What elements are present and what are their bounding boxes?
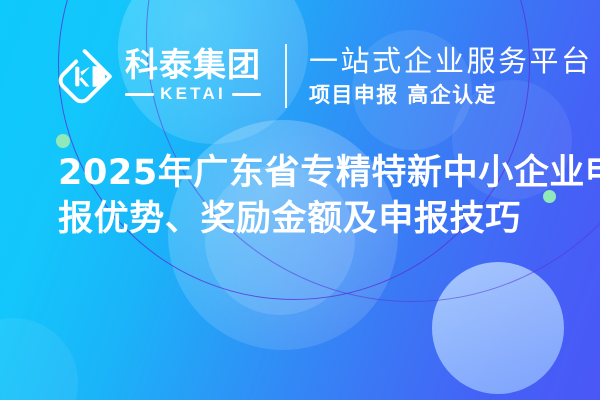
brand-logo-lockup[interactable]: 科泰集团 KETAI bbox=[56, 46, 261, 106]
title-line-2: 报优势、奖励金额及申报技巧 bbox=[58, 196, 558, 242]
brand-name-cn: 科泰集团 bbox=[125, 48, 261, 82]
brand-name-en-row: KETAI bbox=[125, 84, 261, 104]
decorative-dot-left bbox=[56, 134, 70, 148]
wordmark-rule-left bbox=[125, 93, 154, 96]
tagline-primary: 一站式企业服务平台 bbox=[309, 45, 593, 77]
banner-title: 2025年广东省专精特新中小企业申 报优势、奖励金额及申报技巧 bbox=[58, 150, 558, 242]
promo-banner: 科泰集团 KETAI 一站式企业服务平台 项目申报 高企认定 2025年广东省专… bbox=[0, 0, 600, 400]
brand-name-en: KETAI bbox=[160, 84, 226, 104]
brand-wordmark: 科泰集团 KETAI bbox=[125, 48, 261, 104]
brand-tagline: 一站式企业服务平台 项目申报 高企认定 bbox=[309, 45, 593, 107]
wordmark-rule-right bbox=[232, 93, 261, 96]
tagline-secondary: 项目申报 高企认定 bbox=[309, 82, 593, 107]
banner-header: 科泰集团 KETAI 一站式企业服务平台 项目申报 高企认定 bbox=[56, 36, 593, 116]
title-line-1: 2025年广东省专精特新中小企业申 bbox=[58, 150, 558, 196]
header-divider bbox=[285, 44, 287, 108]
ketai-diamond-logo-icon bbox=[56, 46, 116, 106]
decorative-circle-bottom-right bbox=[432, 262, 564, 394]
decorative-circle-bottom-left bbox=[0, 318, 78, 400]
